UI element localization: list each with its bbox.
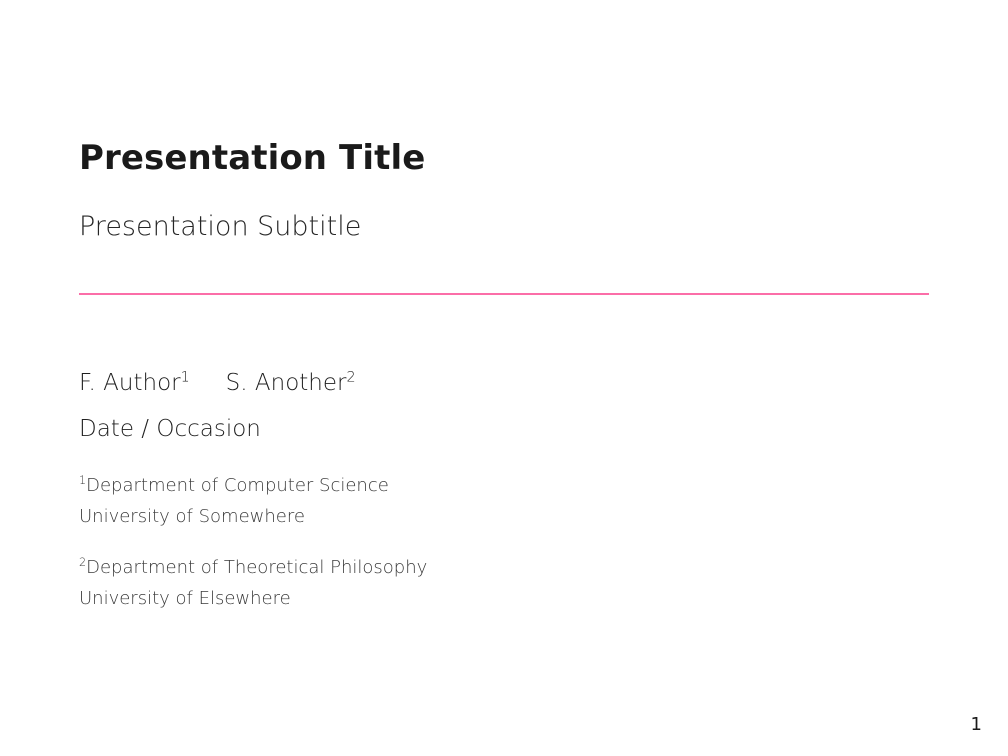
page-number: 1 [971,716,982,734]
author-name: F. Author [79,370,181,396]
affiliation-institution: University of Elsewhere [79,583,939,614]
author-entry: F. Author1 [79,370,190,396]
page-subtitle: Presentation Subtitle [79,208,939,246]
author-affiliation-marker: 2 [346,369,355,385]
affiliation-group: 1Department of Computer Science Universi… [79,470,939,532]
author-block: F. Author1S. Another2 Date / Occasion [79,368,939,445]
affiliation-institution: University of Somewhere [79,501,939,532]
affiliation-list: 1Department of Computer Science Universi… [79,470,939,614]
affiliation-department-line: 2Department of Theoretical Philosophy [79,552,939,583]
affiliation-group: 2Department of Theoretical Philosophy Un… [79,552,939,614]
author-affiliation-marker: 1 [181,369,190,385]
title-block: Presentation Title Presentation Subtitle [79,136,939,246]
title-slide: Presentation Title Presentation Subtitle… [0,0,1008,756]
author-name: S. Another [226,370,347,396]
date-occasion: Date / Occasion [79,414,939,445]
page-title: Presentation Title [79,136,939,180]
author-entry: S. Another2 [226,370,356,396]
affiliation-department: Department of Computer Science [86,475,389,496]
affiliation-department-line: 1Department of Computer Science [79,470,939,501]
accent-rule-divider [79,293,929,295]
affiliation-department: Department of Theoretical Philosophy [86,557,427,578]
author-list: F. Author1S. Another2 [79,368,939,399]
